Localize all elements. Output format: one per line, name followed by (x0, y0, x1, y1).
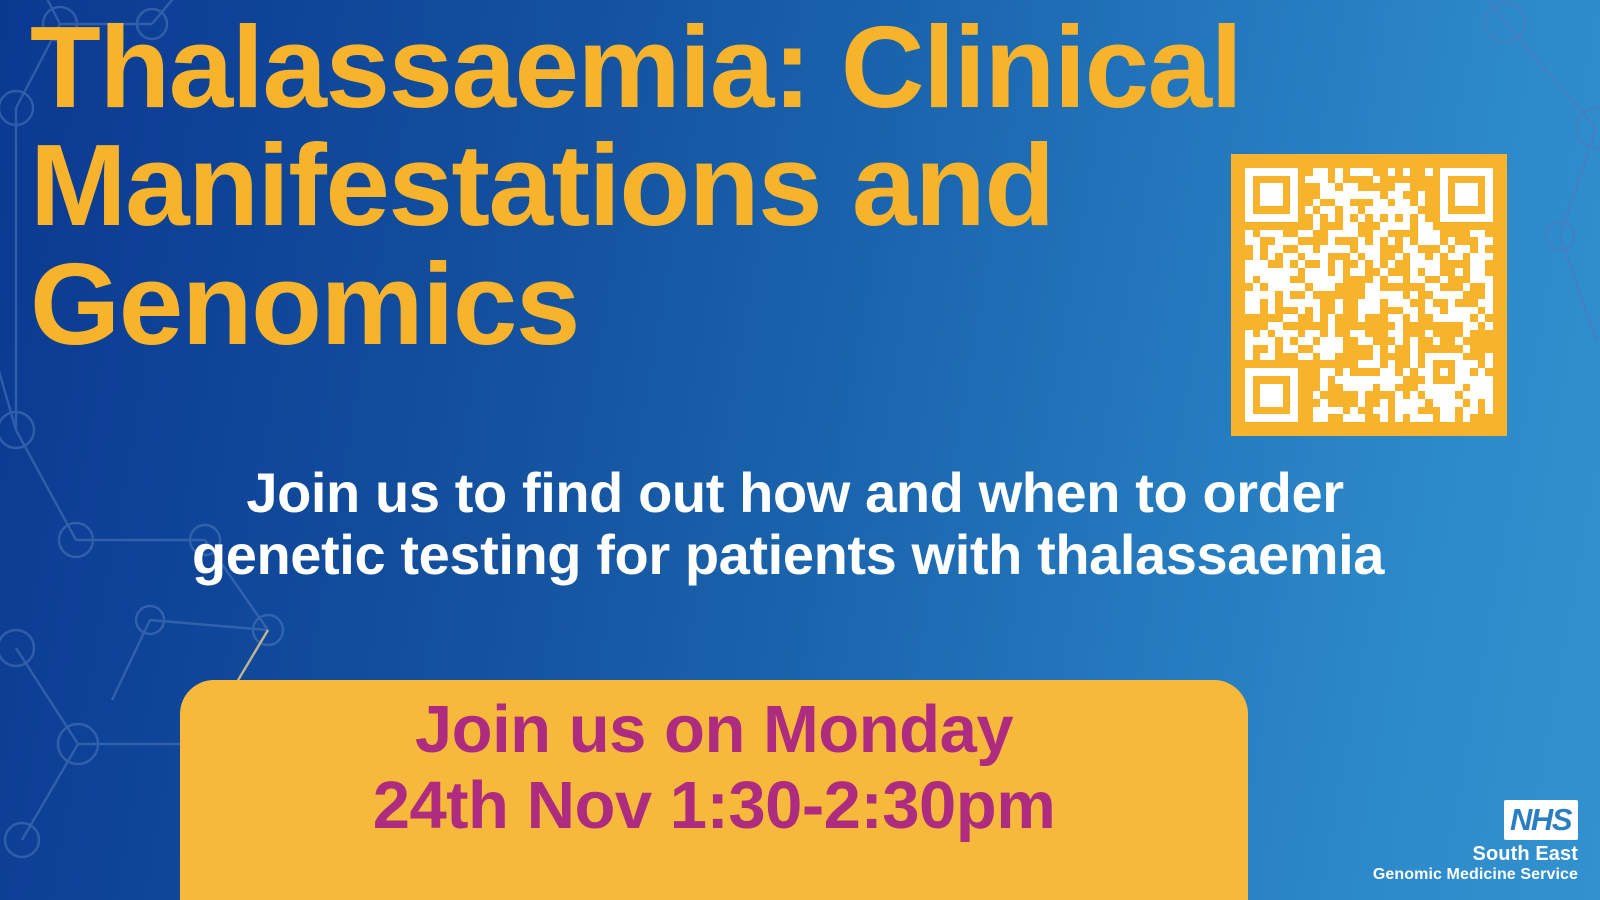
event-datetime-panel: Join us on Monday 24th Nov 1:30-2:30pm (180, 680, 1248, 900)
nhs-region-label: South East (1328, 843, 1578, 865)
qr-code-grid (1245, 168, 1493, 422)
page-title: Thalassaemia: Clinical Manifestations an… (30, 8, 1250, 363)
nhs-wordmark: NHS (1504, 800, 1578, 840)
nhs-logo: NHS South East Genomic Medicine Service (1328, 800, 1578, 884)
promotional-banner: Thalassaemia: Clinical Manifestations an… (0, 0, 1600, 900)
subtitle-line-1: Join us to find out how and when to orde… (8, 462, 1568, 524)
nhs-service-label: Genomic Medicine Service (1328, 866, 1578, 884)
cta-line-1: Join us on Monday (415, 692, 1013, 768)
qr-code-icon[interactable] (1231, 154, 1507, 436)
cta-line-2: 24th Nov 1:30-2:30pm (373, 768, 1056, 844)
subtitle: Join us to find out how and when to orde… (8, 462, 1568, 585)
subtitle-line-2: genetic testing for patients with thalas… (8, 524, 1568, 586)
